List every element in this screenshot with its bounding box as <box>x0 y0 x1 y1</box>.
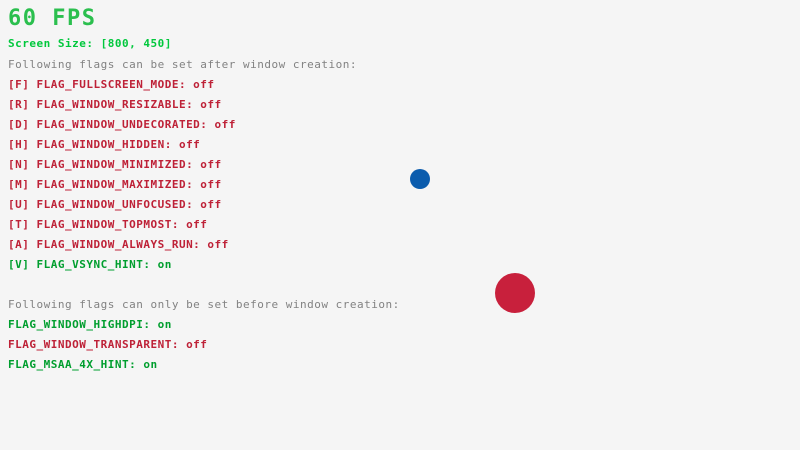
flag-row-flag-fullscreen-mode[interactable]: [F] FLAG_FULLSCREEN_MODE: off <box>8 79 215 90</box>
flag-row-flag-window-maximized[interactable]: [M] FLAG_WINDOW_MAXIMIZED: off <box>8 179 222 190</box>
red-ball <box>495 273 535 313</box>
raylib-window-canvas[interactable]: 60 FPS Screen Size: [800, 450] Following… <box>0 0 800 450</box>
flag-row-flag-window-undecorated[interactable]: [D] FLAG_WINDOW_UNDECORATED: off <box>8 119 236 130</box>
blue-ball <box>410 169 430 189</box>
flag-row-flag-window-always-run[interactable]: [A] FLAG_WINDOW_ALWAYS_RUN: off <box>8 239 229 250</box>
section-header-after-creation: Following flags can be set after window … <box>8 59 357 70</box>
fps-counter: 60 FPS <box>8 8 96 30</box>
flag-row-flag-window-topmost[interactable]: [T] FLAG_WINDOW_TOPMOST: off <box>8 219 207 230</box>
flag-row-flag-window-resizable[interactable]: [R] FLAG_WINDOW_RESIZABLE: off <box>8 99 222 110</box>
screen-size-label: Screen Size: [800, 450] <box>8 38 172 49</box>
flag-row-flag-window-highdpi[interactable]: FLAG_WINDOW_HIGHDPI: on <box>8 319 172 330</box>
flag-row-flag-window-hidden[interactable]: [H] FLAG_WINDOW_HIDDEN: off <box>8 139 200 150</box>
flag-row-flag-msaa-4x-hint[interactable]: FLAG_MSAA_4X_HINT: on <box>8 359 158 370</box>
section-header-before-creation: Following flags can only be set before w… <box>8 299 400 310</box>
flag-row-flag-window-minimized[interactable]: [N] FLAG_WINDOW_MINIMIZED: off <box>8 159 222 170</box>
flag-row-flag-window-unfocused[interactable]: [U] FLAG_WINDOW_UNFOCUSED: off <box>8 199 222 210</box>
flag-row-flag-vsync-hint[interactable]: [V] FLAG_VSYNC_HINT: on <box>8 259 172 270</box>
flag-row-flag-window-transparent[interactable]: FLAG_WINDOW_TRANSPARENT: off <box>8 339 207 350</box>
